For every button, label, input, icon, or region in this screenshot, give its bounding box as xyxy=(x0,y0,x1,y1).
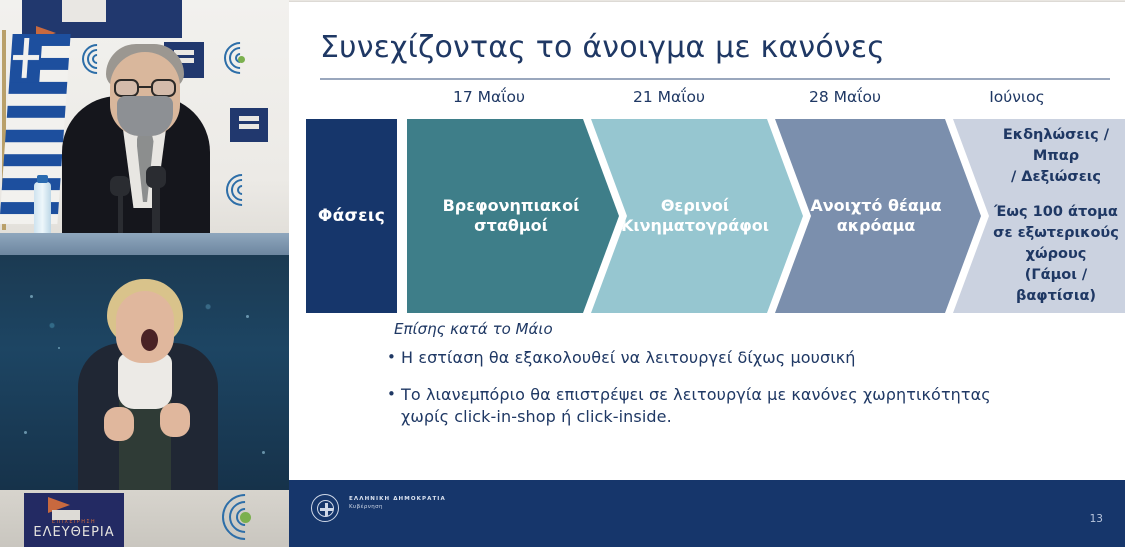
eleftheria-placard-corner: ΕΠΙΧΕΙΡΗΣΗ ΕΛΕΥΘΕΡΙΑ xyxy=(24,493,124,547)
timeline-date-labels: 17 Μαΐου 21 Μαΐου 28 Μαΐου Ιούνιος xyxy=(289,88,1125,114)
placard-corner-big: ΕΛΕΥΘΕΡΙΑ xyxy=(33,525,114,540)
screen: Εθνική Εκστρατεία Εμβολιασμού ΕΠΙΧΕΙΡΗΣΗ… xyxy=(0,0,1125,547)
phase-chevron-1-label: Θερινοί Κινηματογράφοι xyxy=(591,196,803,237)
wall-campaign-logo-icon-4 xyxy=(226,174,260,208)
gov-line1: ΕΛΛΗΝΙΚΗ ΔΗΜΟΚΡΑΤΙΑ xyxy=(349,496,446,502)
speaker-video-panel[interactable] xyxy=(0,0,289,255)
phase-chevron-2[interactable]: Ανοιχτό θέαμα ακρόαμα xyxy=(775,119,981,313)
date-label-2: 28 Μαΐου xyxy=(765,88,925,106)
bullet-1-line1: Το λιανεμπόριο θα επιστρέψει σε λειτουργ… xyxy=(401,385,991,404)
press-wall xyxy=(0,0,289,255)
phase-3-line4: σε εξωτερικούς xyxy=(993,225,1119,241)
bullet-marker: • xyxy=(387,347,401,370)
microphone-head-1 xyxy=(110,176,130,196)
interpreter-hand-right xyxy=(160,403,190,437)
wall-mini-placard-2 xyxy=(230,108,268,142)
slide-footer: ΕΛΛΗΝΙΚΗ ΔΗΜΟΚΡΑΤΙΑ Κυβέρνηση 13 xyxy=(289,480,1125,547)
title-divider xyxy=(320,78,1110,80)
presentation-slide: Συνεχίζοντας το άνοιγμα με κανόνες 17 Μα… xyxy=(289,2,1125,547)
interpreter-mouth xyxy=(141,329,158,351)
wall-campaign-logo-icon-3 xyxy=(224,42,258,76)
interpreter-head xyxy=(116,291,174,363)
phase-chevron-2-label: Ανοιχτό θέαμα ακρόαμα xyxy=(775,196,981,237)
interpreter-video-panel[interactable]: ΕΠΙΧΕΙΡΗΣΗ ΕΛΕΥΘΕΡΙΑ xyxy=(0,255,289,547)
speaker-glasses-icon xyxy=(114,79,176,97)
page-number: 13 xyxy=(1090,513,1103,525)
page-title: Συνεχίζοντας το άνοιγμα με κανόνες xyxy=(320,30,885,65)
interpreter-hand-left xyxy=(104,407,134,441)
eleftheria-flag-icon-corner xyxy=(48,497,80,520)
bullet-1-line2: χωρίς click-in-shop ή click-inside. xyxy=(401,407,672,426)
phase-timeline: Φάσεις Βρεφονηπιακοί σταθμοί Θερινοί Κιν… xyxy=(289,119,1125,313)
list-item: • Η εστίαση θα εξακολουθεί να λειτουργεί… xyxy=(387,347,1087,370)
phase-3-line3: Έως 100 άτομα xyxy=(994,204,1118,220)
bullet-text: Η εστίαση θα εξακολουθεί να λειτουργεί δ… xyxy=(401,347,856,370)
bullet-text: Το λιανεμπόριο θα επιστρέψει σε λειτουργ… xyxy=(401,384,991,429)
campaign-logo-icon-corner xyxy=(222,494,270,542)
wall-banner-top-mark xyxy=(62,0,106,22)
phase-3-line5: χώρους xyxy=(1026,246,1087,262)
date-label-1: 21 Μαΐου xyxy=(589,88,749,106)
date-label-0: 17 Μαΐου xyxy=(409,88,569,106)
phase-box-label: Φάσεις xyxy=(306,119,397,313)
greek-republic-emblem-icon xyxy=(311,494,339,522)
phase-3-spacer xyxy=(993,188,1119,202)
interpreter-lower-band: ΕΠΙΧΕΙΡΗΣΗ ΕΛΕΥΘΕΡΙΑ xyxy=(0,490,289,547)
phase-3-line1: Εκδηλώσεις / Μπαρ xyxy=(1003,127,1109,164)
list-item: • Το λιανεμπόριο θα επιστρέψει σε λειτου… xyxy=(387,384,1087,429)
bullet-0-line1: Η εστίαση θα εξακολουθεί να λειτουργεί δ… xyxy=(401,348,856,367)
date-label-3: Ιούνιος xyxy=(937,88,1097,106)
bullet-marker: • xyxy=(387,384,401,429)
phase-3-line6: (Γάμοι / βαφτίσια) xyxy=(1016,267,1096,304)
bullet-list: • Η εστίαση θα εξακολουθεί να λειτουργεί… xyxy=(387,347,1087,443)
gov-line2: Κυβέρνηση xyxy=(349,504,446,510)
speaker-face-mask xyxy=(117,96,173,136)
also-heading: Επίσης κατά το Μάιο xyxy=(394,320,553,338)
phase-chevron-0[interactable]: Βρεφονηπιακοί σταθμοί xyxy=(407,119,619,313)
city-skyline-background xyxy=(0,255,289,490)
microphone-head-2 xyxy=(146,166,166,188)
government-text: ΕΛΛΗΝΙΚΗ ΔΗΜΟΚΡΑΤΙΑ Κυβέρνηση xyxy=(349,496,446,510)
water-bottle xyxy=(34,182,51,240)
phase-chevron-1[interactable]: Θερινοί Κινηματογράφοι xyxy=(591,119,803,313)
phase-3-line2: / Δεξιώσεις xyxy=(1011,169,1101,185)
speaker-desk xyxy=(0,233,289,255)
phase-chevron-0-label: Βρεφονηπιακοί σταθμοί xyxy=(407,196,619,237)
